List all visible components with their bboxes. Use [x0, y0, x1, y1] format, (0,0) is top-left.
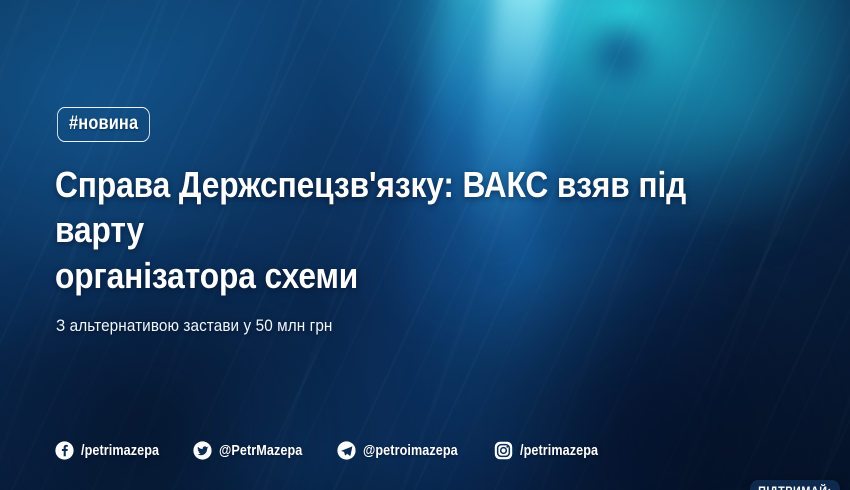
support-label: ПІДТРИМАЙ:: [750, 480, 840, 490]
social-link-telegram[interactable]: @petroimazepa: [337, 441, 472, 460]
social-links-bar: /petrimazepa @PetrMazepa @petroimazepa: [55, 441, 609, 460]
social-handle: /petrimazepa: [520, 443, 598, 459]
social-link-facebook[interactable]: /petrimazepa: [55, 441, 171, 460]
category-badge[interactable]: #новина: [57, 107, 150, 142]
social-link-twitter[interactable]: @PetrMazepa: [193, 441, 315, 460]
facebook-icon: [55, 441, 74, 460]
social-link-instagram[interactable]: /petrimazepa: [494, 441, 610, 460]
social-handle: /petrimazepa: [81, 443, 159, 459]
telegram-icon: [337, 441, 356, 460]
subtitle: З альтернативою застави у 50 млн грн: [56, 316, 332, 336]
headline: Справа Держспецзв'язку: ВАКС взяв під ва…: [55, 162, 697, 298]
news-card: #новина Справа Держспецзв'язку: ВАКС взя…: [0, 0, 850, 490]
social-handle: @PetrMazepa: [219, 443, 302, 459]
social-handle: @petroimazepa: [363, 443, 458, 459]
instagram-icon: [494, 441, 513, 460]
twitter-icon: [193, 441, 212, 460]
